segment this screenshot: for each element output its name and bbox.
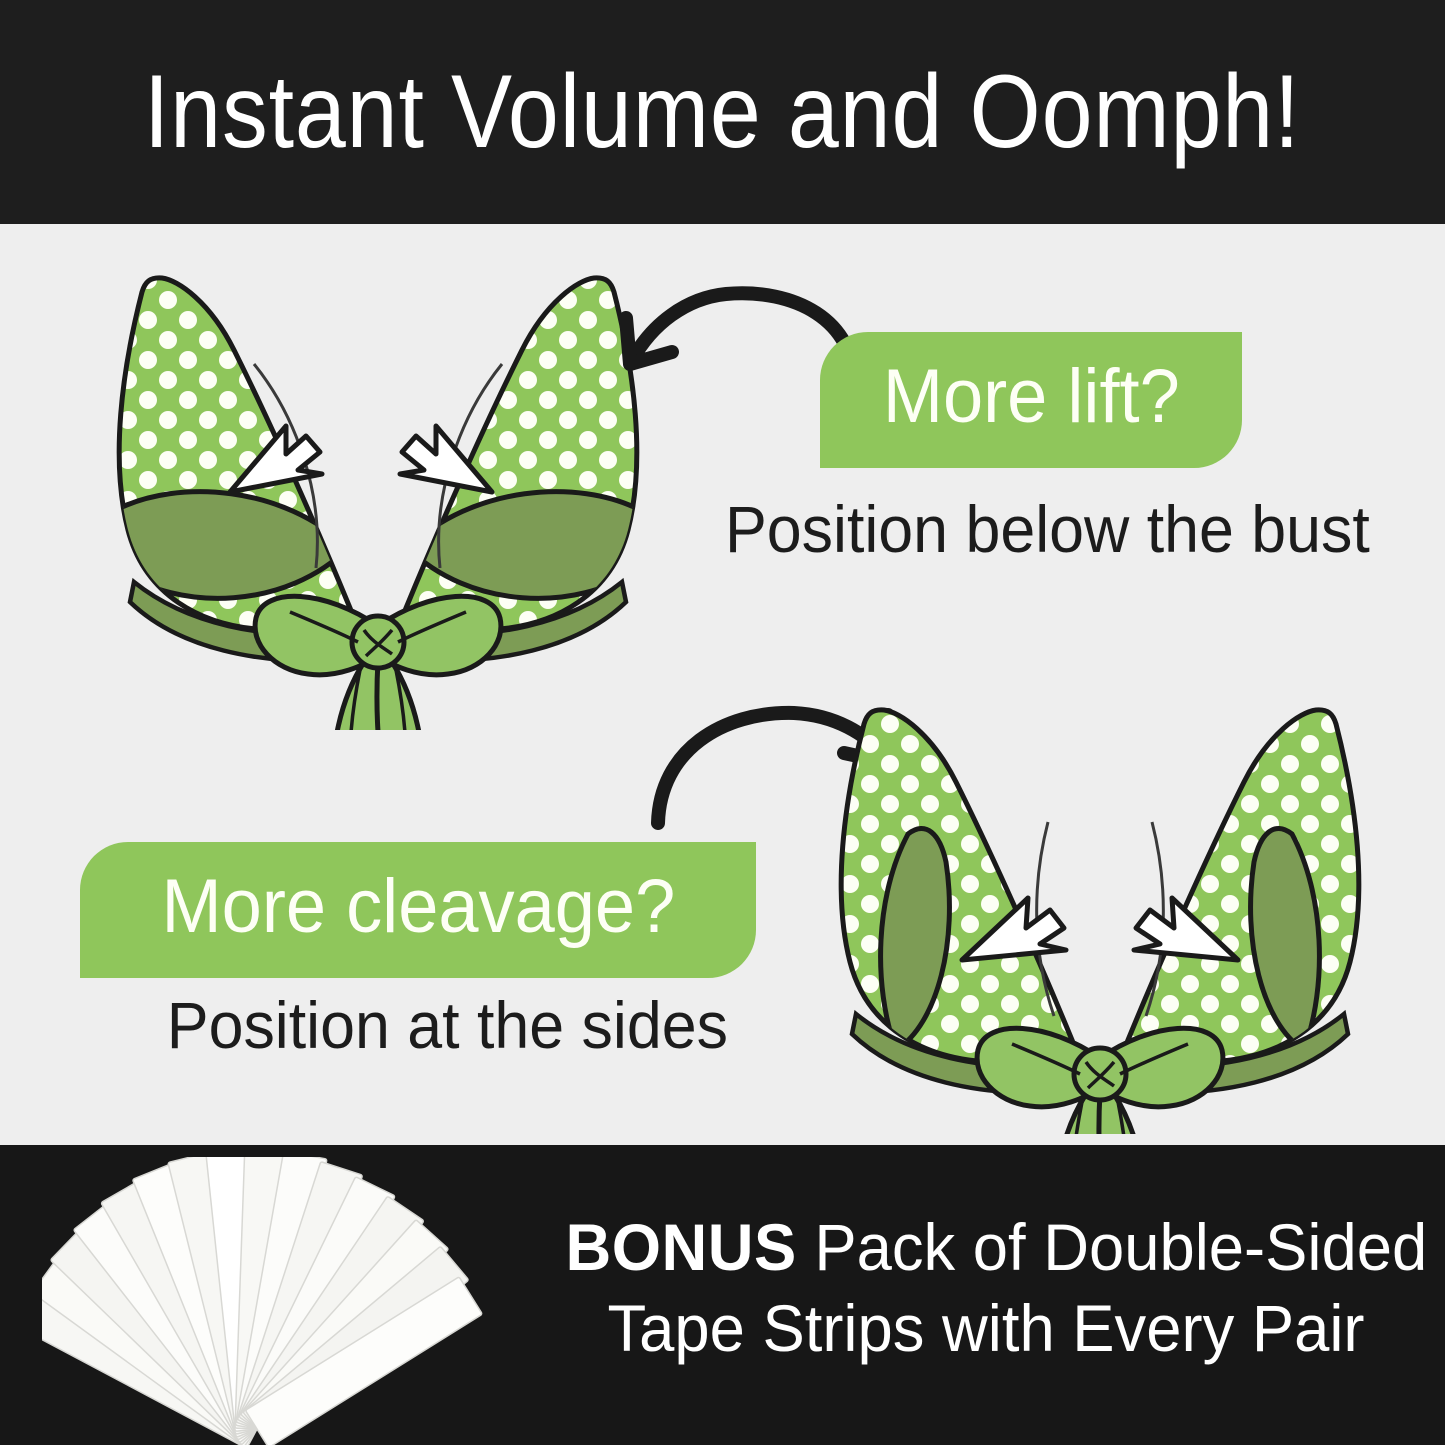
page-title: Instant Volume and Oomph! [144, 60, 1301, 164]
bonus-word: BONUS [566, 1210, 797, 1284]
bra-bow [977, 1028, 1223, 1134]
caption-position-below-bust: Position below the bust [725, 496, 1370, 562]
badge-more-cleavage-label: More cleavage? [161, 869, 675, 951]
bonus-line-1: BONUS Pack of Double-Sided [566, 1207, 1407, 1288]
caption-position-at-sides: Position at the sides [167, 992, 728, 1058]
header-band: Instant Volume and Oomph! [0, 0, 1445, 224]
bonus-line-1-rest: Pack of Double-Sided [797, 1210, 1427, 1284]
footer-band: BONUS Pack of Double-Sided Tape Strips w… [0, 1145, 1445, 1445]
bra-bow [255, 596, 501, 730]
fanned-tape-strips-graphic [42, 1157, 542, 1445]
illustration-bra-pads-at-sides [780, 694, 1420, 1134]
badge-more-lift: More lift? [820, 332, 1242, 468]
body-band: More lift? Position below the bust More … [0, 224, 1445, 1145]
badge-more-lift-label: More lift? [883, 359, 1180, 441]
bonus-line-2: Tape Strips with Every Pair [566, 1288, 1407, 1369]
product-infographic: Instant Volume and Oomph! [0, 0, 1445, 1445]
bonus-offer-text: BONUS Pack of Double-Sided Tape Strips w… [566, 1207, 1407, 1368]
badge-more-cleavage: More cleavage? [80, 842, 756, 978]
